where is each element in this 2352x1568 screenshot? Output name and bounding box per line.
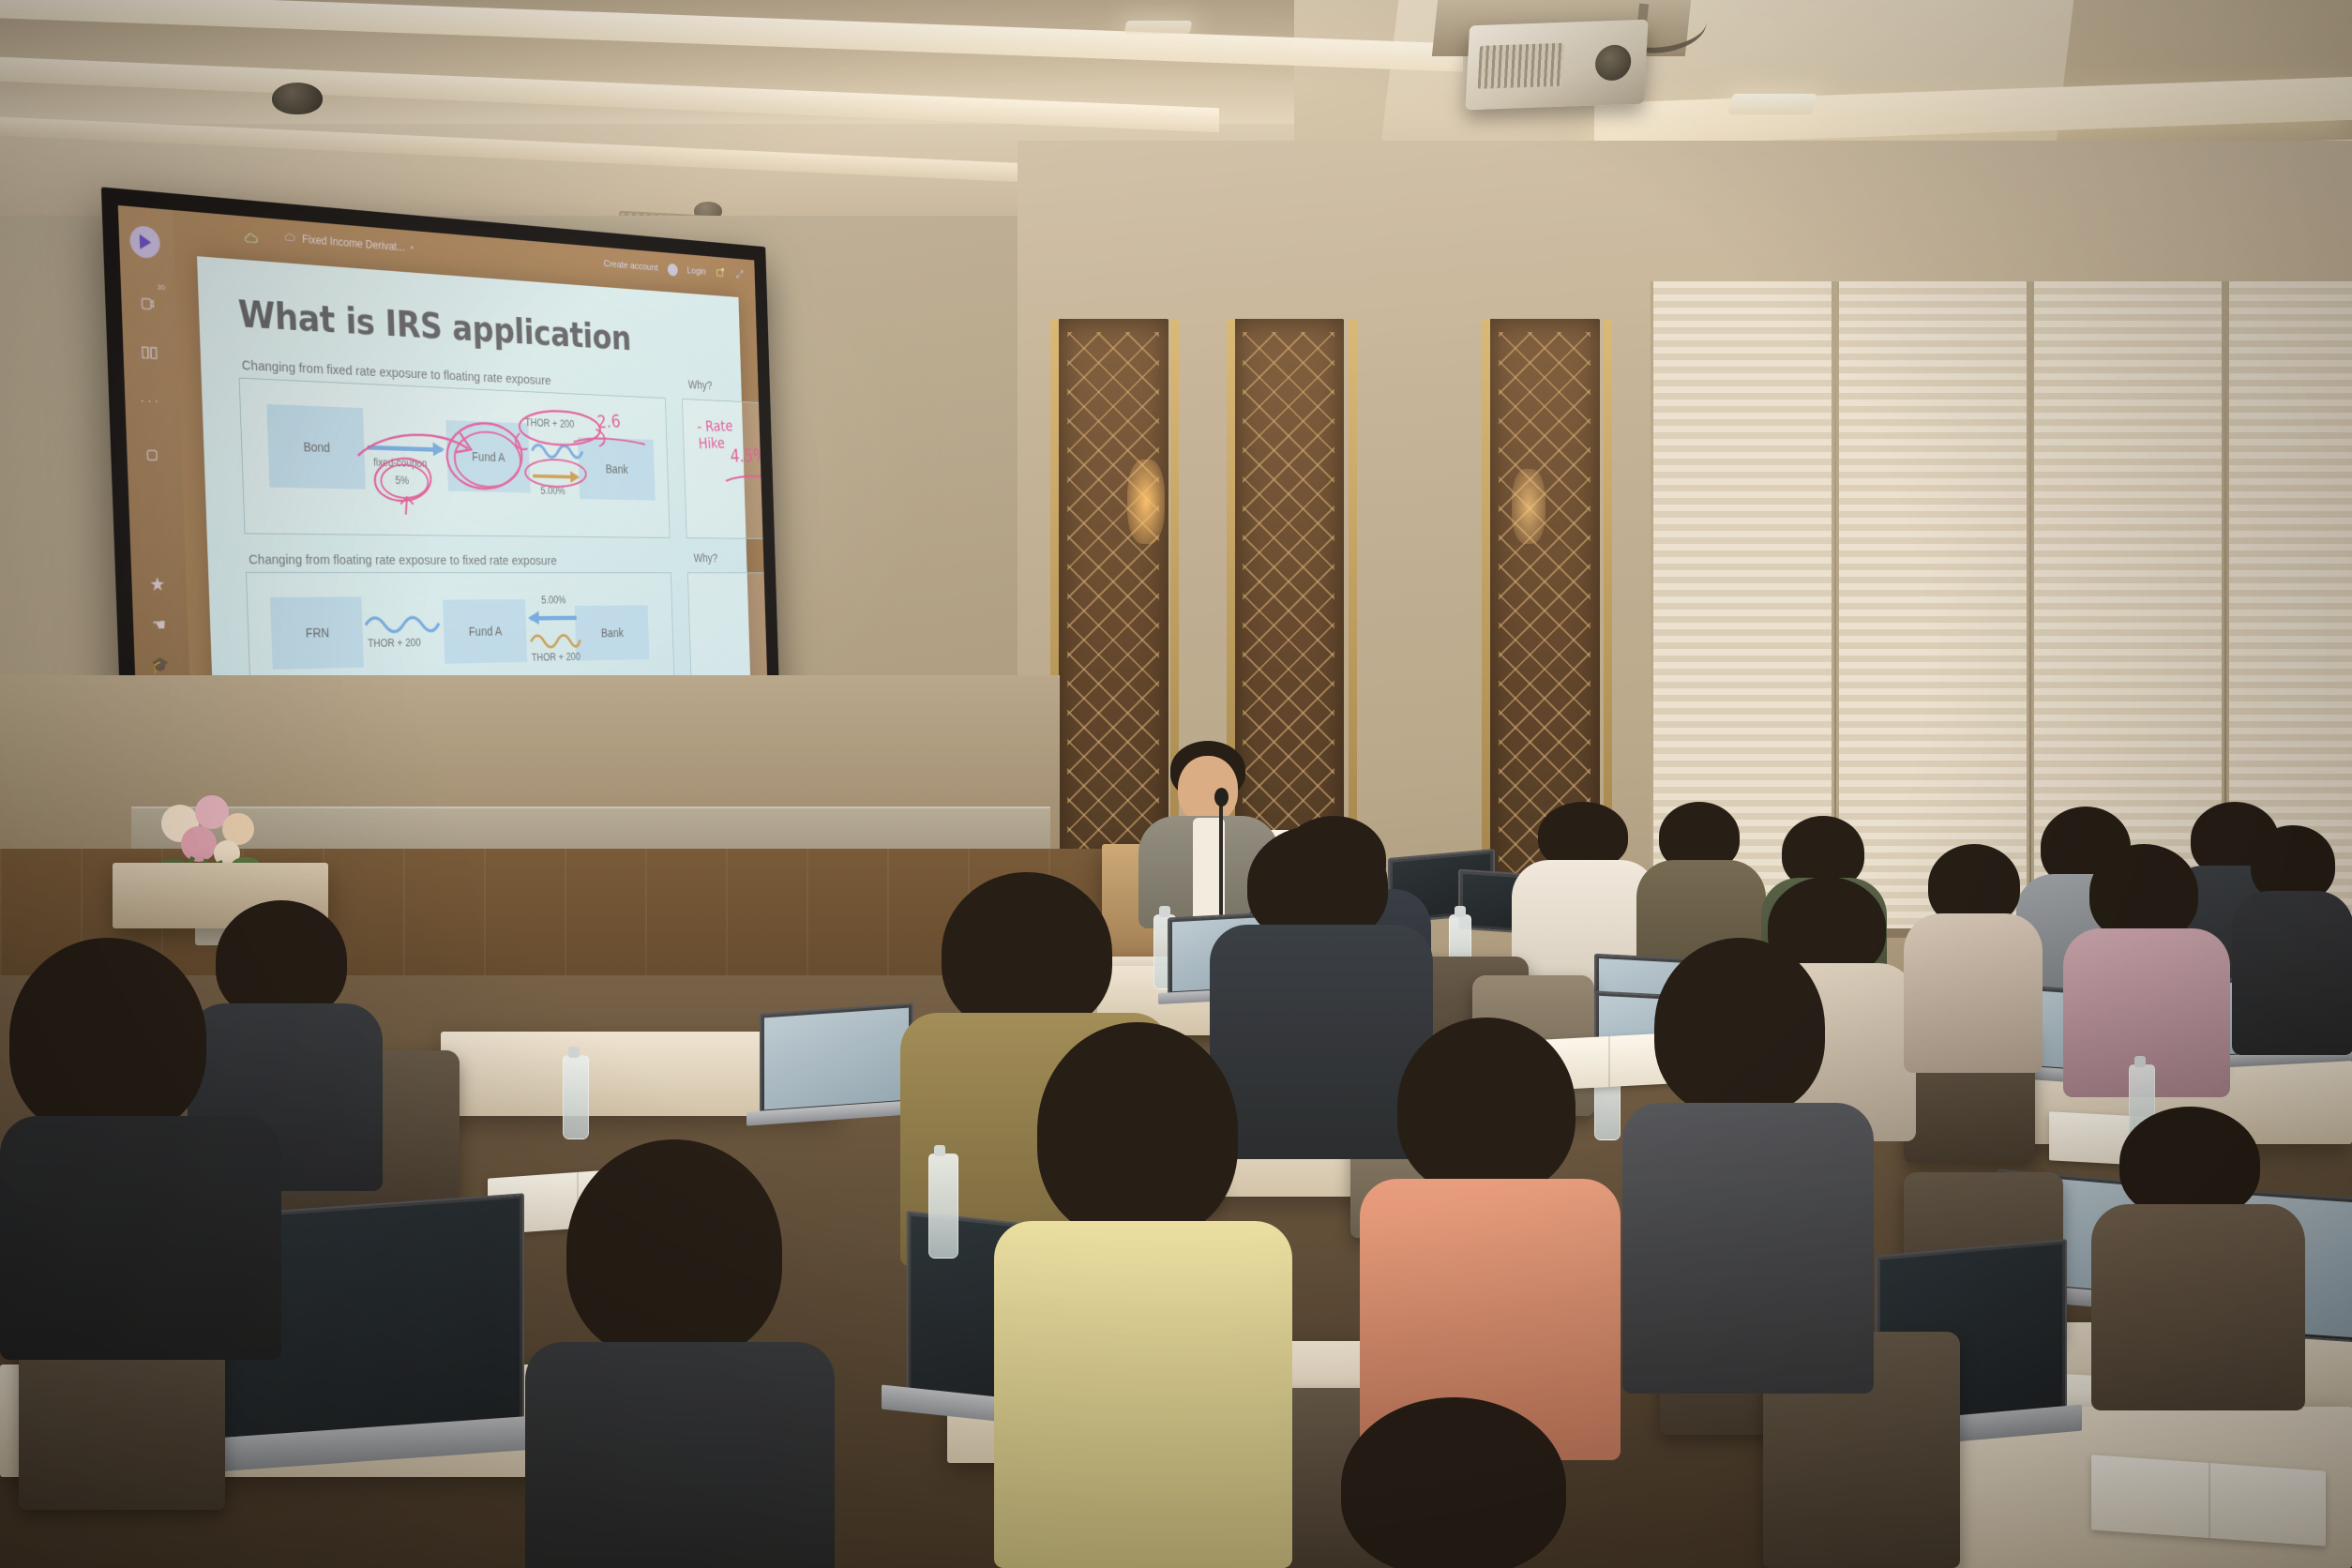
- node-bank-2: Bank: [575, 605, 650, 660]
- app-logo-icon[interactable]: [129, 225, 160, 259]
- projector-vent: [1478, 43, 1565, 89]
- slide-title: What is IRS application: [237, 294, 631, 358]
- duplicate-icon[interactable]: [137, 440, 168, 473]
- cloud-icon: [284, 231, 297, 245]
- hand-pointer-icon[interactable]: ☚: [143, 609, 174, 641]
- node-frn: FRN: [270, 596, 364, 669]
- topbar-actions: Create account Login: [604, 257, 746, 281]
- ink-note-2-6: 2.6: [596, 411, 622, 431]
- section-1-why-label: Why?: [688, 378, 713, 392]
- water-bottle-front-1: [928, 1153, 958, 1259]
- screenshot-root: 30 ··· ★ ☚ 🎓: [0, 0, 2352, 1568]
- audience-person-front-4: [1360, 1018, 1622, 1458]
- wall-lamp-glow-2: [1512, 469, 1545, 544]
- gold-trim-5: [1482, 319, 1490, 896]
- star-icon[interactable]: ★: [142, 568, 173, 600]
- ceiling-spot-light-2: [1124, 21, 1192, 34]
- edge-label-500-1: 5.00%: [540, 485, 565, 497]
- more-icon[interactable]: ···: [135, 384, 166, 416]
- section-2-why-label: Why?: [693, 551, 717, 565]
- audience-person-front-1: [0, 938, 291, 1332]
- microphone: [1214, 788, 1229, 807]
- section-2-subtitle: Changing from floating rate exposure to …: [249, 552, 557, 568]
- audience-person-front-7: [2091, 1107, 2307, 1388]
- slide-canvas: What is IRS application Changing from fi…: [197, 256, 751, 728]
- node-bond: Bond: [266, 404, 366, 490]
- audience-person-front-3: [994, 1022, 1294, 1566]
- security-camera-dome: [272, 83, 323, 114]
- ceiling-projector: [1465, 20, 1648, 111]
- node-fund-a-1: Fund A: [445, 420, 530, 492]
- arrow-bank-to-fund: [530, 616, 576, 621]
- edge-label-fixed-coupon: fixed-coupon: [373, 456, 428, 470]
- gold-trim-4: [1349, 319, 1357, 896]
- audience-person-row2-3: [2063, 844, 2232, 1078]
- create-account-button[interactable]: Create account: [604, 259, 658, 273]
- edge-label-5pct: 5%: [395, 475, 409, 487]
- audience-person-row2-2: [1904, 844, 2044, 1060]
- projector-lens-icon: [1594, 44, 1632, 81]
- water-bottle-3: [563, 1055, 589, 1139]
- edge-label-thor-1: THOR + 200: [525, 416, 575, 430]
- notification-badge: 30: [158, 283, 166, 292]
- ceiling-spot-light: [1727, 94, 1817, 114]
- edge-label-thor-2: THOR + 200: [368, 637, 421, 650]
- avatar: [668, 263, 678, 276]
- audience-person-front-2: [525, 1139, 835, 1568]
- tab-menu-icon[interactable]: •: [410, 241, 414, 253]
- node-bank-1: Bank: [578, 437, 656, 501]
- audience-person-row2-4: [2232, 825, 2352, 1041]
- document-tab-label: Fixed Income Derivat...: [302, 233, 405, 253]
- wall-lamp-glow: [1127, 460, 1165, 544]
- book-icon[interactable]: [133, 335, 164, 368]
- login-button[interactable]: Login: [687, 265, 706, 277]
- notifications-icon[interactable]: 30: [131, 287, 162, 321]
- document-tab[interactable]: Fixed Income Derivat... •: [284, 231, 415, 255]
- edge-label-thor-3: THOR + 200: [532, 651, 581, 664]
- cloud-upload-icon[interactable]: [236, 223, 266, 256]
- audience-person-front-6: [1294, 1397, 1613, 1568]
- edge-label-500-2: 5.00%: [541, 595, 566, 607]
- node-fund-a-2: Fund A: [443, 599, 527, 664]
- expand-icon[interactable]: [735, 268, 746, 282]
- present-icon[interactable]: [716, 266, 727, 280]
- audience-person-front-5: [1622, 938, 1876, 1388]
